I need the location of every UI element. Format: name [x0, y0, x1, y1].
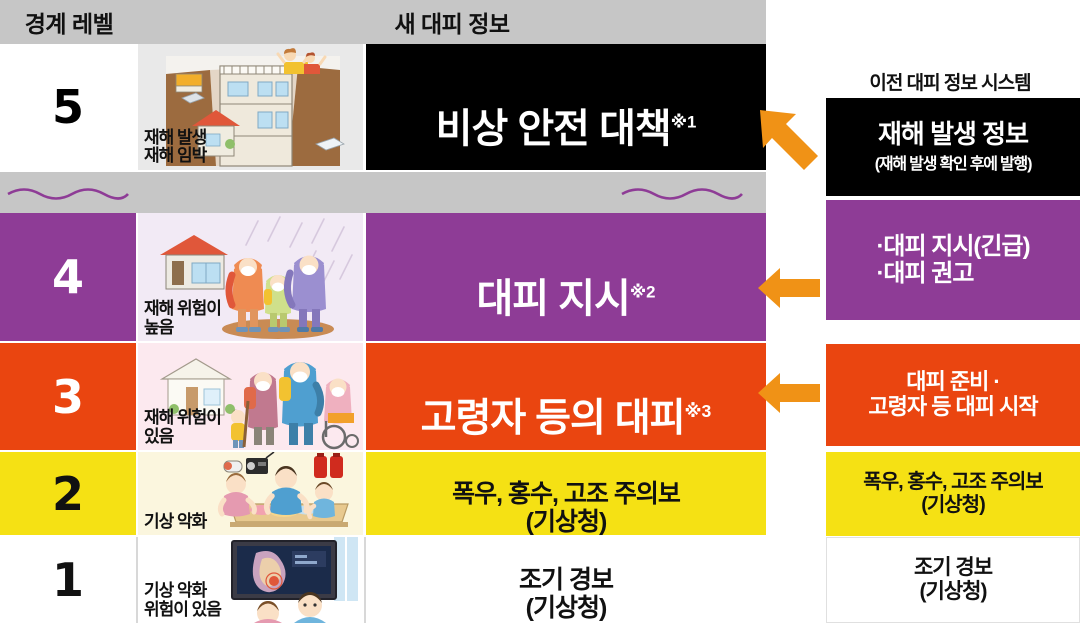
- legacy-evacuation-system-panel: 이전 대피 정보 시스템 재해 발생 정보 (재해 발생 확인 후에 발행) ·…: [820, 0, 1080, 625]
- legacy-box-weather-advisory: 폭우, 홍수, 고조 주의보 (기상청): [826, 452, 1080, 536]
- level-number: 3: [52, 370, 84, 424]
- illustration-cell: 기상 악화: [138, 452, 366, 535]
- action-footnote: ※1: [671, 113, 697, 132]
- table-row: 3: [0, 343, 766, 452]
- legacy-panel-title: 이전 대피 정보 시스템: [820, 68, 1080, 95]
- table-row: 5: [0, 44, 766, 172]
- illustration-label: 기상 악화 위험이 있음: [144, 581, 221, 619]
- illustration-label: 기상 악화: [144, 512, 206, 531]
- action-cell: 고령자 등의 대피※3: [366, 343, 766, 450]
- legacy-box-main-text: ·대피 지시(긴급) ·대피 권고: [876, 233, 1029, 287]
- alert-level-table: 경계 레벨 새 대피 정보 5: [0, 0, 766, 625]
- level-number-cell: 2: [0, 452, 138, 535]
- wavy-line-break-icon: [0, 172, 766, 213]
- table-row: 4: [0, 213, 766, 343]
- action-text: 폭우, 홍수, 고조 주의보 (기상청): [452, 480, 680, 536]
- header-new-info-column: 새 대피 정보: [138, 0, 766, 44]
- legacy-box-sub-text: (재해 발생 확인 후에 발행): [875, 150, 1031, 174]
- header-level-column: 경계 레벨: [0, 0, 138, 44]
- legacy-box-disaster-occurrence: 재해 발생 정보 (재해 발생 확인 후에 발행): [826, 98, 1080, 196]
- action-text: 고령자 등의 대피: [421, 397, 685, 440]
- level-number: 4: [52, 250, 84, 304]
- table-row: 1: [0, 537, 766, 623]
- action-cell: 조기 경보 (기상청): [366, 537, 766, 623]
- level-number-cell: 1: [0, 537, 138, 623]
- action-footnote: ※3: [685, 401, 712, 421]
- level-number-cell: 3: [0, 343, 138, 450]
- illustration-cell: 재해 발생 재해 임박: [138, 44, 366, 170]
- legacy-box-main-text: 조기 경보 (기상청): [914, 556, 992, 603]
- action-text: 조기 경보 (기상청): [519, 566, 613, 622]
- illustration-cell: 기상 악화 위험이 있음: [138, 537, 366, 623]
- level-number-cell: 4: [0, 213, 138, 341]
- legacy-box-main-text: 대피 준비 · 고령자 등 대피 시작: [868, 370, 1037, 420]
- illustration-label: 재해 위험이 높음: [144, 299, 221, 337]
- legacy-box-main-text: 재해 발생 정보: [878, 120, 1028, 149]
- illustration-cell: 재해 위험이 있음: [138, 343, 366, 450]
- action-footnote: ※2: [630, 283, 656, 302]
- arrow-up-left-icon: [756, 104, 824, 176]
- table-header-row: 경계 레벨 새 대피 정보: [0, 0, 766, 44]
- level-number: 1: [52, 553, 84, 607]
- wavy-separator-band: [0, 172, 766, 213]
- action-text: 비상 안전 대책: [436, 107, 671, 151]
- illustration-cell: 재해 위험이 높음: [138, 213, 366, 341]
- legacy-box-evacuation-prep: 대피 준비 · 고령자 등 대피 시작: [826, 344, 1080, 446]
- action-cell: 폭우, 홍수, 고조 주의보 (기상청): [366, 452, 766, 535]
- action-cell: 대피 지시※2: [366, 213, 766, 341]
- level-number-cell: 5: [0, 44, 138, 170]
- legacy-box-evacuation-order: ·대피 지시(긴급) ·대피 권고: [826, 200, 1080, 320]
- illustration-label: 재해 위험이 있음: [144, 408, 221, 446]
- legacy-box-main-text: 폭우, 홍수, 고조 주의보 (기상청): [863, 471, 1042, 516]
- legacy-box-early-warning: 조기 경보 (기상청): [826, 537, 1080, 623]
- level-number: 5: [52, 80, 84, 134]
- arrow-left-icon: [756, 369, 822, 417]
- table-row: 2: [0, 452, 766, 537]
- arrow-left-icon: [756, 264, 822, 312]
- action-cell: 비상 안전 대책※1: [366, 44, 766, 170]
- level-number: 2: [52, 467, 84, 521]
- illustration-label: 재해 발생 재해 임박: [144, 129, 206, 166]
- action-text: 대피 지시: [477, 277, 630, 321]
